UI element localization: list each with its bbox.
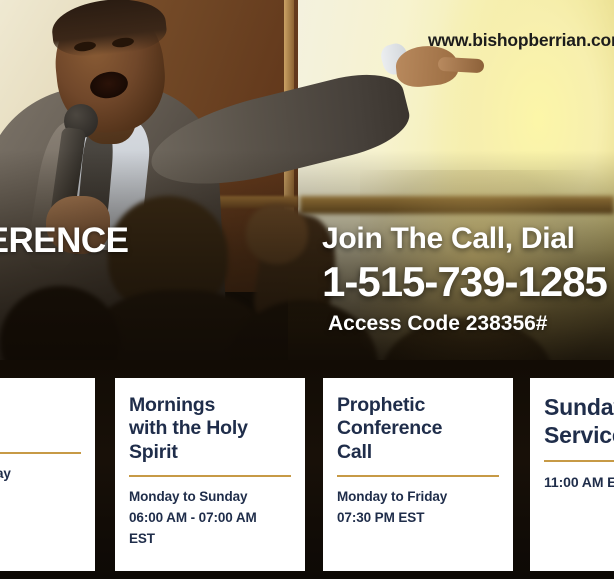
speaker-pointing-finger	[438, 57, 485, 73]
phone-number: 1-515-739-1285	[322, 258, 607, 306]
card-title-line-2: ence	[0, 417, 81, 440]
schedule-card-1[interactable]: Day ence o Saturday 01:00 PM	[0, 378, 95, 571]
card-time: 11:00 AM EST	[544, 472, 614, 494]
card-divider	[129, 475, 291, 477]
card-time: 06:00 AM - 07:00 AM	[129, 508, 291, 529]
card-timezone: EST	[129, 529, 291, 550]
schedule-card-row: Day ence o Saturday 01:00 PM Mornings wi…	[0, 378, 614, 571]
card-title-line-2: with the Holy	[129, 417, 291, 440]
card-divider	[337, 475, 499, 477]
card-meta: o Saturday 01:00 PM	[0, 464, 81, 506]
card-days: Monday to Friday	[337, 487, 499, 508]
card-title-line-1: Day	[0, 394, 81, 417]
card-title-line-2: Service	[544, 422, 614, 450]
card-title: Prophetic Conference Call	[337, 394, 499, 464]
left-heading-block: E NFERENCE L	[0, 205, 200, 295]
card-title-line-1: Prophetic	[337, 394, 499, 417]
card-days: Monday to Sunday	[129, 487, 291, 508]
card-time: 01:00 PM	[0, 485, 81, 506]
card-meta: 11:00 AM EST	[544, 472, 614, 494]
schedule-card-3[interactable]: Prophetic Conference Call Monday to Frid…	[323, 378, 513, 571]
access-code: Access Code 238356#	[328, 312, 607, 336]
website-url: www.bishopberrian.con	[428, 30, 614, 51]
card-divider	[0, 452, 81, 454]
schedule-card-2[interactable]: Mornings with the Holy Spirit Monday to …	[115, 378, 305, 571]
banner-graphic: www.bishopberrian.con E NFERENCE L Join …	[0, 0, 614, 579]
left-heading-line-3: L	[0, 259, 200, 295]
left-heading-line-2: NFERENCE	[0, 223, 200, 259]
call-to-action-text: Join The Call, Dial	[322, 222, 607, 256]
card-title: Day ence	[0, 394, 81, 441]
call-details-block: Join The Call, Dial 1-515-739-1285 Acces…	[322, 222, 607, 336]
card-title: Mornings with the Holy Spirit	[129, 394, 291, 464]
schedule-card-4[interactable]: Sunday Service 11:00 AM EST	[530, 378, 614, 571]
card-time: 07:30 PM EST	[337, 508, 499, 529]
card-title-line-1: Sunday	[544, 394, 614, 422]
card-title-line-2: Conference	[337, 417, 499, 440]
card-meta: Monday to Sunday 06:00 AM - 07:00 AM EST	[129, 487, 291, 550]
card-title-line-3: Spirit	[129, 441, 291, 464]
card-title-line-1: Mornings	[129, 394, 291, 417]
card-meta: Monday to Friday 07:30 PM EST	[337, 487, 499, 529]
card-divider	[544, 460, 614, 462]
card-title: Sunday Service	[544, 394, 614, 449]
card-days: o Saturday	[0, 464, 81, 485]
card-title-line-3: Call	[337, 441, 499, 464]
